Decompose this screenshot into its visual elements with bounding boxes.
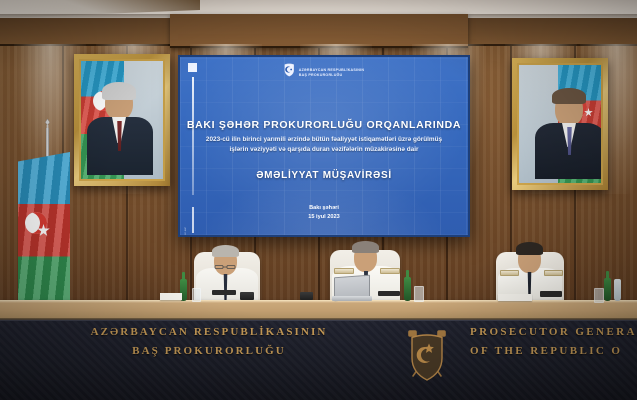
glasses-icon bbox=[214, 256, 237, 260]
projection-screen[interactable]: prokurorluq.gov.az AZƏRBAYCAN RESPUBLİKA… bbox=[180, 57, 468, 235]
prosecutor-shield-emblem-icon bbox=[404, 326, 450, 388]
laptop-base[interactable] bbox=[332, 296, 372, 301]
slide-subheading: 2023-cü ilin birinci yarımili ərzində bü… bbox=[202, 135, 446, 155]
slide-logo-text: AZƏRBAYCAN RESPUBLİKASININ BAŞ PROKURORL… bbox=[299, 68, 364, 78]
portrait-right-canvas bbox=[519, 65, 601, 183]
epaulette-left bbox=[500, 270, 519, 276]
name-plate bbox=[300, 292, 313, 300]
desk-banner-left-line2: BAŞ PROKURORLUĞU bbox=[84, 345, 334, 357]
slide-location: Bakı şəhəri bbox=[180, 205, 468, 211]
desk-banner-right-line1: PROSECUTOR GENERAL bbox=[470, 326, 637, 338]
water-bottle bbox=[614, 279, 621, 301]
wall-raised-header-panel bbox=[170, 14, 468, 48]
slide-corner-marker bbox=[188, 63, 197, 72]
desk-microphone bbox=[540, 291, 562, 297]
projection-screen-frame: prokurorluq.gov.az AZƏRBAYCAN RESPUBLİKA… bbox=[178, 55, 470, 237]
slide-heading: BAKI ŞƏHƏR PROKURORLUĞU ORQANLARINDA bbox=[180, 119, 468, 131]
conference-hall-photo: prokurorluq.gov.az AZƏRBAYCAN RESPUBLİKA… bbox=[0, 0, 637, 400]
hair bbox=[352, 241, 379, 253]
paper-documents bbox=[160, 293, 182, 300]
water-glass bbox=[414, 286, 424, 302]
slide-side-url: prokurorluq.gov.az bbox=[183, 227, 187, 235]
portrait-mat bbox=[79, 59, 165, 181]
water-glass bbox=[594, 288, 604, 303]
desk-banner-right-line2: OF THE REPUBLIC O bbox=[470, 345, 637, 357]
portrait-left-frame bbox=[74, 54, 170, 186]
slide-logo-line2: BAŞ PROKURORLUĞU bbox=[299, 73, 343, 77]
slide-date: 15 iyul 2023 bbox=[180, 214, 468, 220]
green-glass-bottle bbox=[404, 277, 411, 301]
portrait-mat bbox=[517, 63, 603, 185]
desk-banner-left-line1: AZƏRBAYCAN RESPUBLİKASININ bbox=[84, 326, 334, 338]
epaulette-right bbox=[380, 268, 400, 274]
azerbaijan-prosecutor-emblem-icon bbox=[284, 63, 295, 82]
hair bbox=[516, 242, 543, 255]
portrait-subject-hair bbox=[102, 82, 136, 100]
green-glass-bottle bbox=[604, 278, 611, 301]
slide-logo: AZƏRBAYCAN RESPUBLİKASININ BAŞ PROKURORL… bbox=[284, 63, 364, 82]
desk-top-highlight bbox=[0, 300, 637, 303]
slide-event-type: ƏMƏLİYYAT MÜŞAVİRƏSİ bbox=[180, 170, 468, 181]
portrait-right-frame bbox=[512, 58, 608, 190]
bottle-neck bbox=[182, 272, 185, 281]
desk-microphone bbox=[378, 291, 400, 296]
epaulette-right bbox=[544, 270, 563, 276]
slide-logo-line1: AZƏRBAYCAN RESPUBLİKASININ bbox=[299, 68, 364, 72]
name-plate bbox=[240, 292, 254, 300]
portrait-left-canvas bbox=[81, 61, 163, 179]
desk-microphone bbox=[212, 290, 236, 295]
paper-documents bbox=[498, 294, 532, 301]
bottle-neck bbox=[606, 271, 609, 280]
bottle-neck bbox=[406, 270, 409, 279]
epaulette-left bbox=[334, 268, 354, 274]
portrait-subject-hair bbox=[552, 88, 586, 104]
water-glass bbox=[192, 288, 201, 302]
